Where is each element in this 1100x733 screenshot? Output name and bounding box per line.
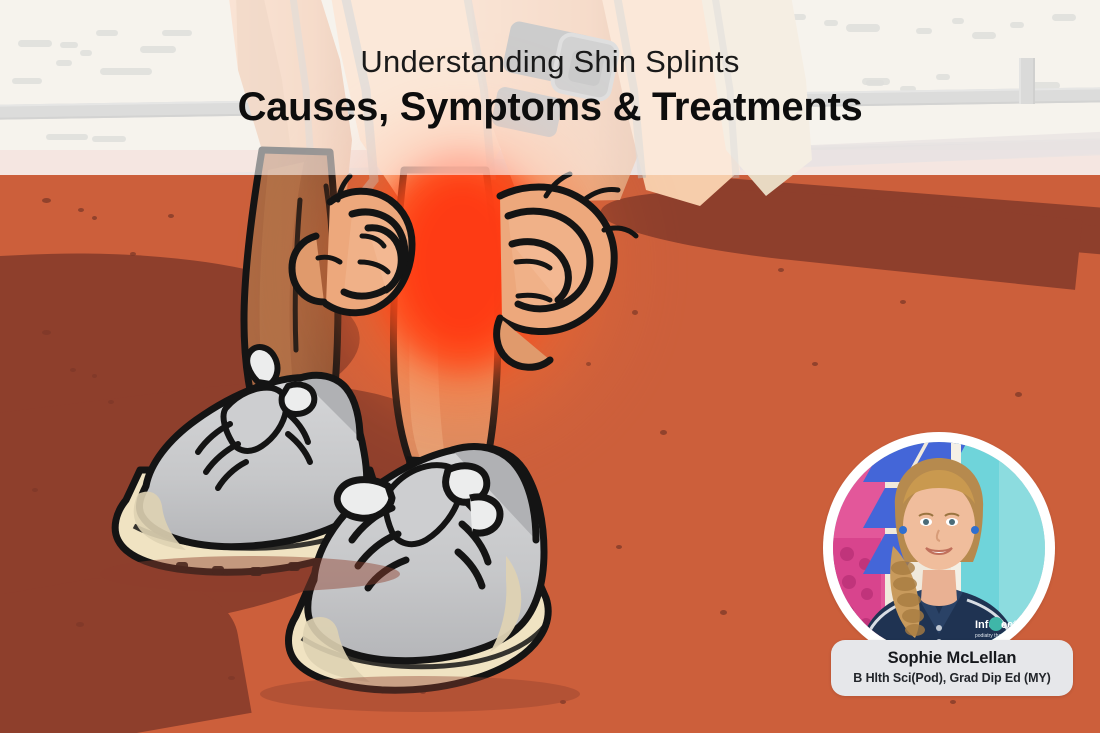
right-shoe-shadow [260,676,580,712]
earring [899,526,907,534]
left-shoe-shadow [100,556,400,592]
headline-title: Causes, Symptoms & Treatments [238,84,863,130]
headline-block: Understanding Shin Splints Causes, Sympt… [0,0,1100,175]
author-credentials: B Hlth Sci(Pod), Grad Dip Ed (MY) [841,670,1063,686]
avatar: Info eet podiatry that moves you [833,442,1045,654]
face [903,482,975,570]
headline-subtitle: Understanding Shin Splints [360,45,739,79]
author-badge[interactable]: Sophie McLellan B Hlth Sci(Pod), Grad Di… [831,640,1073,696]
blog-hero-banner: Understanding Shin Splints Causes, Sympt… [0,0,1100,733]
avatar-portrait: Info eet podiatry that moves you [833,442,1045,654]
earring [971,526,979,534]
author-name: Sophie McLellan [841,648,1063,669]
